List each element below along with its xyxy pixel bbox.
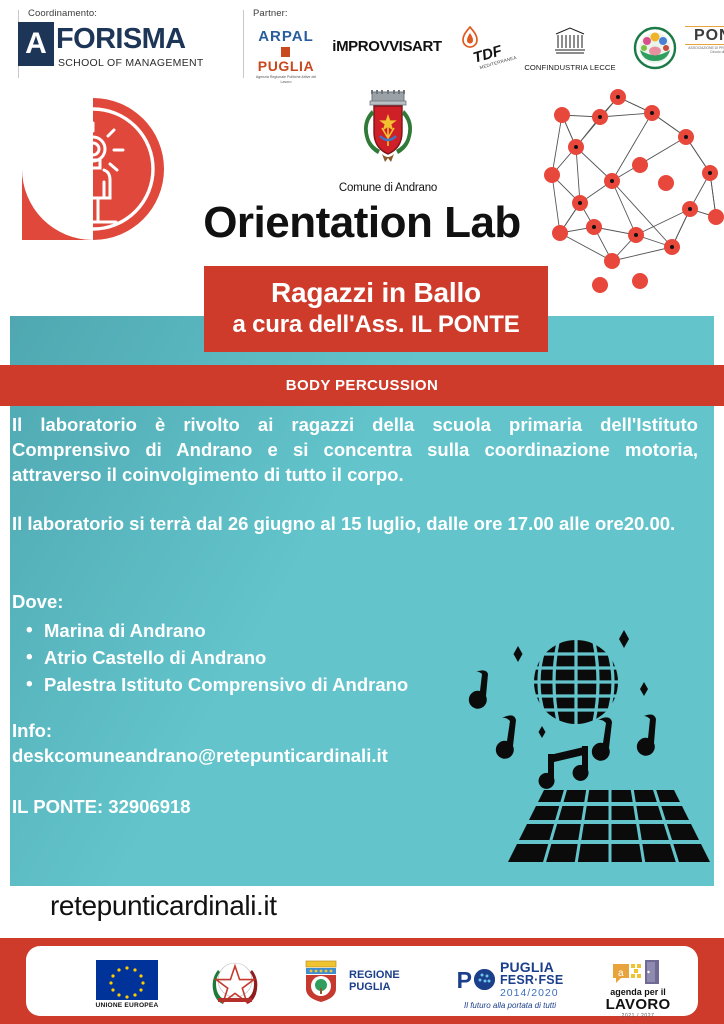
lavoro-line2: LAVORO [582, 997, 694, 1013]
po-p-letter: P [457, 969, 472, 991]
network-graphic-icon [540, 85, 724, 300]
partner-logos: ARPAL PUGLIA Agenzia Regionale Politiche… [253, 24, 715, 80]
where-list: Marina di Andrano Atrio Castello di Andr… [12, 617, 408, 698]
info-heading: Info: [12, 718, 388, 743]
poster-root: Coordinamento: A FORISMA SCHOOL OF MANAG… [0, 0, 724, 1024]
po-line1: PUGLIA [500, 960, 563, 974]
list-item: Atrio Castello di Andrano [12, 644, 408, 671]
ponte-subtitle: ASSOCIAZIONE DI PROMOZIONE SOCIALE / Cir… [685, 46, 724, 55]
paragraph-description: Il laboratorio è rivolto ai ragazzi dell… [12, 412, 712, 487]
repubblica-italiana-logo [196, 958, 274, 1011]
subtitle-line1: Ragazzi in Ballo [204, 276, 548, 310]
aforisma-logo: A FORISMA SCHOOL OF MANAGEMENT [18, 22, 204, 69]
arpal-line1: ARPAL [253, 30, 319, 44]
footer-band: UNIONE EUROPEA [0, 938, 724, 1024]
subtitle-line2: a cura dell'Ass. IL PONTE [204, 310, 548, 340]
confindustria-wordmark: CONFINDUSTRIA LECCE [515, 63, 625, 72]
coordination-label: Coordinamento: [28, 8, 97, 19]
agenda-lavoro-logo: a agenda per il LAVORO 2021 / 2027 [582, 958, 694, 1019]
regione-line2: PUGLIA [349, 981, 400, 993]
il-ponte-logo: PONTE ASSOCIAZIONE DI PROMOZIONE SOCIALE… [685, 26, 724, 55]
eu-flag-icon [96, 960, 158, 1000]
disco-ball-icon [534, 640, 618, 724]
comune-coat-of-arms-icon [346, 88, 430, 174]
po-line2: FESR·FSE [500, 974, 563, 987]
subtitle-banner: Ragazzi in Ballo a cura dell'Ass. IL PON… [204, 266, 548, 352]
aforisma-wordmark: FORISMA [56, 22, 204, 56]
info-section: Info: deskcomuneandrano@retepunticardina… [12, 718, 388, 819]
repubblica-emblem-icon [206, 958, 264, 1006]
confindustria-emblem-icon [553, 26, 587, 56]
confindustria-lecce-logo: CONFINDUSTRIA LECCE [515, 26, 625, 72]
list-item: Marina di Andrano [12, 617, 408, 644]
circular-emblem-icon [633, 26, 677, 70]
list-item: Palestra Istituto Comprensivo di Andrano [12, 671, 408, 698]
po-tagline: Il futuro alla portata di tutti [430, 1001, 590, 1010]
circular-emblem-logo [631, 26, 679, 75]
divider-partner [243, 10, 244, 78]
svg-text:a: a [618, 968, 624, 979]
partner-label: Partner: [253, 8, 711, 19]
improvvisart-wordmark: iMPROVVISART [331, 38, 443, 55]
section-bar: BODY PERCUSSION [0, 365, 724, 406]
improvvisart-logo: iMPROVVISART [331, 38, 443, 55]
where-section: Dove: Marina di Andrano Atrio Castello d… [12, 590, 408, 698]
comune-label: Comune di Andrano [318, 182, 458, 194]
po-bubble-icon [474, 969, 495, 990]
info-email[interactable]: deskcomuneandrano@retepunticardinali.it [12, 743, 388, 768]
header-logo-strip: Coordinamento: A FORISMA SCHOOL OF MANAG… [0, 0, 724, 88]
po-line3: 2014/2020 [500, 987, 563, 999]
aforisma-tagline: SCHOOL OF MANAGEMENT [58, 57, 204, 69]
website-url[interactable]: retepunticardinali.it [50, 890, 277, 922]
paragraph-schedule: Il laboratorio si terrà dal 26 giugno al… [12, 511, 712, 536]
arpal-line2: PUGLIA [253, 44, 319, 74]
agenda-lavoro-icon: a [611, 958, 665, 986]
where-heading: Dove: [12, 590, 408, 614]
regione-puglia-logo: REGIONE PUGLIA [298, 958, 426, 1004]
po-puglia-logo: P PUGLIA [430, 960, 590, 1010]
page-title: Orientation Lab [0, 198, 724, 248]
disco-ball-dancefloor-graphic [448, 612, 710, 870]
ponte-wordmark: PONTE [685, 26, 724, 45]
footer-logos: UNIONE EUROPEA [26, 946, 698, 1016]
info-phone: IL PONTE: 32906918 [12, 794, 388, 819]
section-bar-label: BODY PERCUSSION [286, 377, 438, 394]
footer-card: UNIONE EUROPEA [26, 946, 698, 1016]
regione-line1: REGIONE [349, 969, 400, 981]
arpal-line3: Agenzia Regionale Politiche Attive del L… [253, 75, 319, 85]
arpal-puglia-logo: ARPAL PUGLIA Agenzia Regionale Politiche… [253, 30, 319, 85]
comune-di-andrano-block: Comune di Andrano [318, 88, 458, 194]
eu-caption: UNIONE EUROPEA [84, 1002, 170, 1009]
lavoro-line3: 2021 / 2027 [582, 1013, 694, 1019]
regione-puglia-shield-icon [298, 958, 344, 1004]
body-copy: Il laboratorio è rivolto ai ragazzi dell… [12, 412, 712, 536]
unione-europea-logo: UNIONE EUROPEA [84, 960, 170, 1009]
network-nodes-graphic [540, 85, 724, 300]
disco-graphic-icon [448, 612, 710, 870]
aforisma-mark: A [18, 22, 54, 66]
